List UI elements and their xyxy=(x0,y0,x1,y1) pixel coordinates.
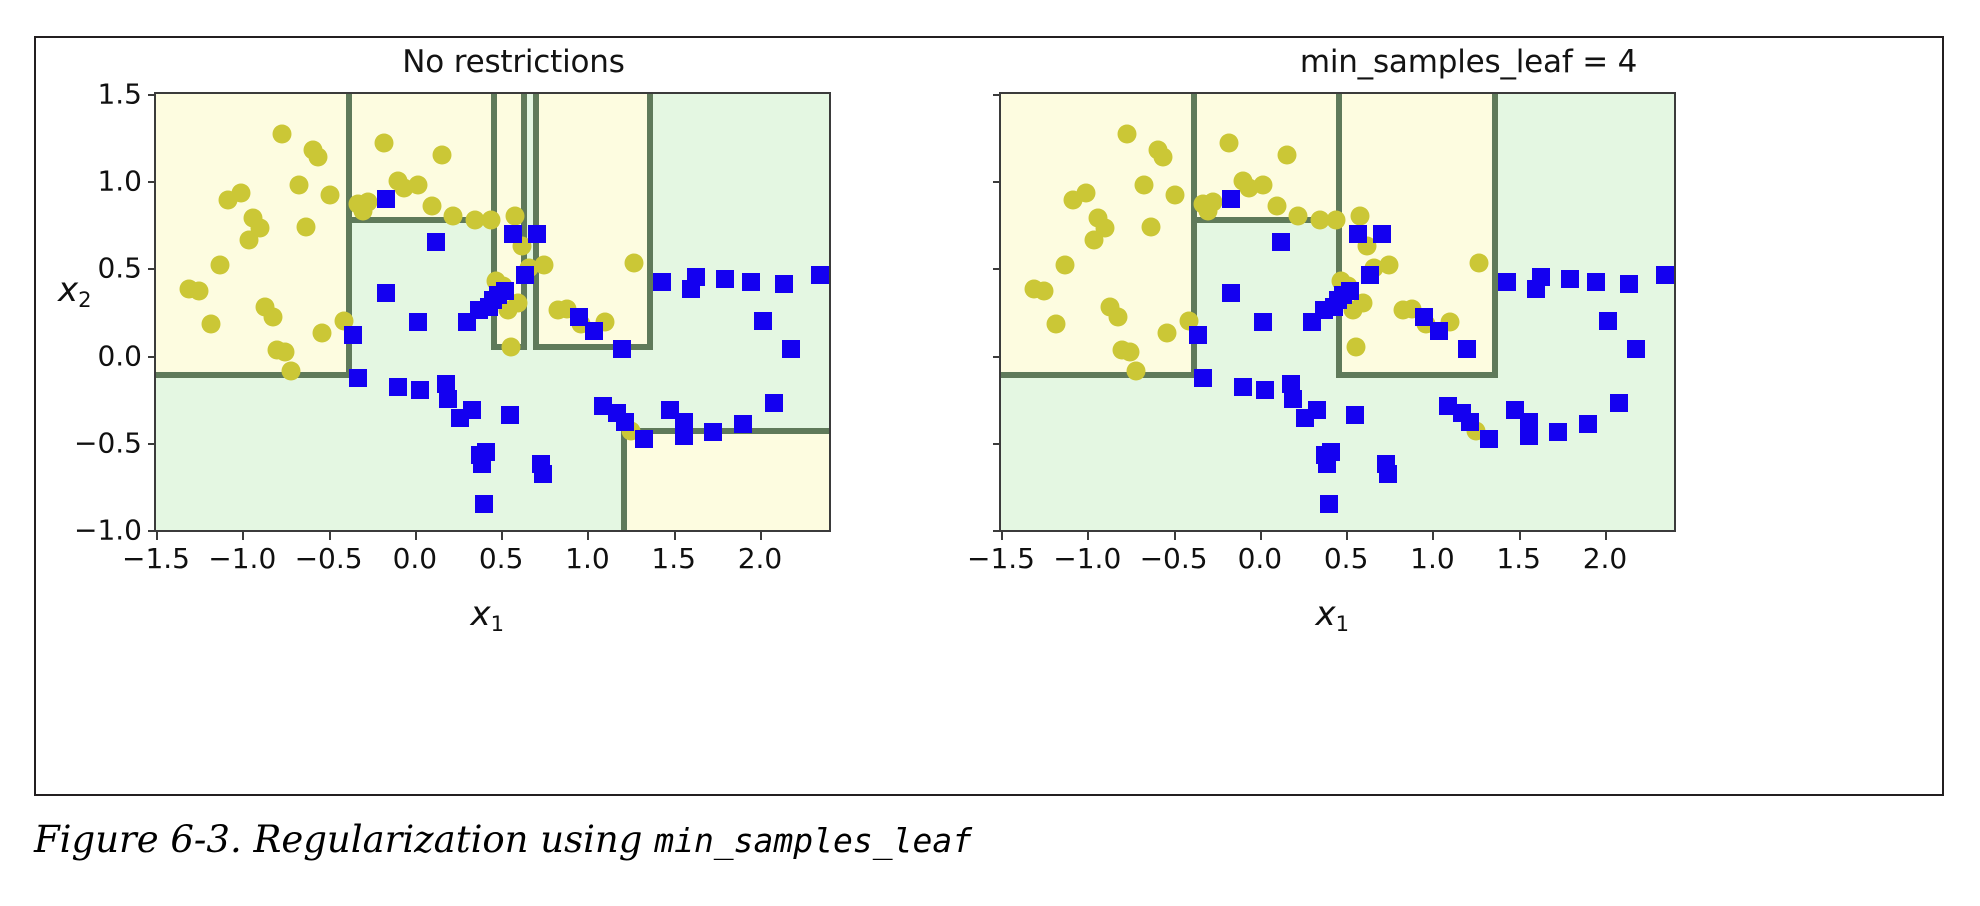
y-tick-mark xyxy=(993,356,1001,358)
data-point-square xyxy=(1373,225,1391,243)
data-point-square xyxy=(1349,225,1367,243)
x-tick-label: 0.0 xyxy=(1238,542,1283,575)
data-point-circle xyxy=(1109,308,1128,327)
data-point-square xyxy=(653,273,671,291)
decision-boundary-segment xyxy=(533,92,539,350)
x-tick-mark xyxy=(329,532,331,540)
data-point-square xyxy=(534,465,552,483)
y-tick-mark xyxy=(993,268,1001,270)
data-point-circle xyxy=(1135,175,1154,194)
data-point-square xyxy=(585,322,603,340)
x-tick-mark xyxy=(587,532,589,540)
y-tick-mark xyxy=(148,356,156,358)
x-tick-mark xyxy=(242,532,244,540)
plot-panel-right: min_samples_leaf = 4 −1.5−1.0−0.50.00.51… xyxy=(991,38,1946,794)
data-point-square xyxy=(504,225,522,243)
decision-boundary-segment xyxy=(621,428,627,532)
data-point-square xyxy=(1222,284,1240,302)
data-point-square xyxy=(1361,266,1379,284)
data-point-circle xyxy=(1278,146,1297,165)
data-point-square xyxy=(716,270,734,288)
data-point-circle xyxy=(433,146,452,165)
axes-left xyxy=(154,92,831,532)
caption-prefix: Figure 6-3. Regularization using xyxy=(34,818,654,861)
data-point-square xyxy=(1549,423,1567,441)
data-point-square xyxy=(1627,340,1645,358)
caption-code: min_samples_leaf xyxy=(654,821,972,860)
data-point-square xyxy=(1587,273,1605,291)
y-axis-label-left: x2 xyxy=(58,270,92,312)
x-tick-label: −1.5 xyxy=(967,542,1035,575)
data-point-circle xyxy=(1126,362,1145,381)
x-tick-mark xyxy=(1432,532,1434,540)
data-point-square xyxy=(616,413,634,431)
x-tick-label: 1.5 xyxy=(651,542,696,575)
data-point-square xyxy=(1272,233,1290,251)
decision-boundary-segment xyxy=(154,372,352,378)
x-tick-label: 1.0 xyxy=(565,542,610,575)
y-tick-mark xyxy=(993,94,1001,96)
x-tick-label: 0.5 xyxy=(479,542,524,575)
x-tick-mark xyxy=(1346,532,1348,540)
data-point-square xyxy=(528,225,546,243)
data-point-square xyxy=(811,266,829,284)
data-point-square xyxy=(1458,340,1476,358)
data-point-circle xyxy=(1326,210,1345,229)
data-point-circle xyxy=(502,337,521,356)
x-tick-label: −1.5 xyxy=(122,542,190,575)
data-point-square xyxy=(349,369,367,387)
data-point-square xyxy=(427,233,445,251)
x-axis-label-right: x1 xyxy=(1316,594,1350,636)
data-point-circle xyxy=(443,207,462,226)
x-tick-label: 0.0 xyxy=(393,542,438,575)
x-tick-label: 0.5 xyxy=(1324,542,1369,575)
data-point-square xyxy=(1322,443,1340,461)
data-point-square xyxy=(377,190,395,208)
data-point-circle xyxy=(297,217,316,236)
data-point-square xyxy=(1308,401,1326,419)
data-point-square xyxy=(1579,415,1597,433)
x-tick-mark xyxy=(760,532,762,540)
data-point-square xyxy=(1222,190,1240,208)
stray-mark xyxy=(40,0,150,8)
x-tick-mark xyxy=(156,532,158,540)
data-point-circle xyxy=(250,219,269,238)
decision-boundary-segment xyxy=(1336,372,1497,378)
data-point-square xyxy=(1610,394,1628,412)
x-tick-label: 1.5 xyxy=(1496,542,1541,575)
data-point-square xyxy=(613,340,631,358)
x-tick-mark xyxy=(1519,532,1521,540)
data-point-square xyxy=(344,326,362,344)
data-point-square xyxy=(1430,322,1448,340)
data-point-circle xyxy=(1142,217,1161,236)
data-point-circle xyxy=(1219,133,1238,152)
y-tick-mark xyxy=(148,181,156,183)
x-axis-label-left: x1 xyxy=(471,594,505,636)
data-point-square xyxy=(775,275,793,293)
data-point-square xyxy=(377,284,395,302)
y-tick-label: 1.0 xyxy=(97,165,142,198)
decision-boundary-segment xyxy=(1492,92,1498,378)
data-point-square xyxy=(1480,430,1498,448)
plot-area-right xyxy=(1001,94,1674,530)
data-point-square xyxy=(1498,273,1516,291)
data-point-square xyxy=(782,340,800,358)
y-tick-mark xyxy=(993,181,1001,183)
data-point-circle xyxy=(481,210,500,229)
data-point-circle xyxy=(625,254,644,273)
y-tick-mark xyxy=(148,443,156,445)
data-point-square xyxy=(411,381,429,399)
data-point-square xyxy=(475,495,493,513)
y-tick-mark xyxy=(148,94,156,96)
data-point-circle xyxy=(359,193,378,212)
data-point-circle xyxy=(1055,255,1074,274)
data-point-circle xyxy=(1166,186,1185,205)
data-point-square xyxy=(501,406,519,424)
y-tick-label: 1.5 xyxy=(97,78,142,111)
data-point-circle xyxy=(1347,337,1366,356)
data-point-circle xyxy=(1350,207,1369,226)
data-point-square xyxy=(754,312,772,330)
data-point-circle xyxy=(202,315,221,334)
x-tick-label: −1.0 xyxy=(208,542,276,575)
x-tick-mark xyxy=(1260,532,1262,540)
figure-frame: No restrictions −1.5−1.0−0.50.00.51.01.5… xyxy=(34,36,1944,796)
data-point-square xyxy=(496,282,514,300)
data-point-square xyxy=(1656,266,1674,284)
x-tick-label: 2.0 xyxy=(738,542,783,575)
data-point-square xyxy=(1189,326,1207,344)
y-tick-mark xyxy=(993,443,1001,445)
axes-right xyxy=(999,92,1676,532)
data-point-circle xyxy=(1157,323,1176,342)
x-tick-label: 2.0 xyxy=(1583,542,1628,575)
y-tick-mark xyxy=(993,530,1001,532)
data-point-square xyxy=(463,401,481,419)
data-point-circle xyxy=(1047,315,1066,334)
data-point-square xyxy=(1620,275,1638,293)
figure-caption: Figure 6-3. Regularization using min_sam… xyxy=(34,818,972,861)
x-tick-label: −1.0 xyxy=(1053,542,1121,575)
data-point-square xyxy=(477,443,495,461)
data-point-circle xyxy=(312,323,331,342)
data-point-square xyxy=(516,266,534,284)
data-point-circle xyxy=(231,184,250,203)
data-point-circle xyxy=(535,255,554,274)
data-point-square xyxy=(1256,381,1274,399)
data-point-square xyxy=(1532,268,1550,286)
data-point-circle xyxy=(374,133,393,152)
data-point-square xyxy=(765,394,783,412)
data-point-square xyxy=(1561,270,1579,288)
data-point-circle xyxy=(1288,207,1307,226)
data-point-square xyxy=(1284,390,1302,408)
data-point-square xyxy=(1320,495,1338,513)
x-tick-label: −0.5 xyxy=(295,542,363,575)
data-point-circle xyxy=(281,362,300,381)
data-point-circle xyxy=(505,207,524,226)
data-point-square xyxy=(734,415,752,433)
data-point-circle xyxy=(190,282,209,301)
plot-title-right: min_samples_leaf = 4 xyxy=(991,44,1946,80)
data-point-circle xyxy=(210,255,229,274)
data-point-circle xyxy=(423,196,442,215)
data-point-circle xyxy=(1268,196,1287,215)
data-point-circle xyxy=(1076,184,1095,203)
data-point-square xyxy=(1346,406,1364,424)
data-point-square xyxy=(704,423,722,441)
data-point-square xyxy=(389,378,407,396)
x-tick-label: −0.5 xyxy=(1140,542,1208,575)
data-point-circle xyxy=(1380,255,1399,274)
y-tick-mark xyxy=(148,530,156,532)
x-tick-mark xyxy=(1174,532,1176,540)
y-tick-label: 0.5 xyxy=(97,252,142,285)
data-point-circle xyxy=(1154,147,1173,166)
y-tick-label: −0.5 xyxy=(74,426,142,459)
x-tick-mark xyxy=(501,532,503,540)
data-point-square xyxy=(742,273,760,291)
y-tick-mark xyxy=(148,268,156,270)
data-point-circle xyxy=(276,343,295,362)
decision-boundary-segment xyxy=(647,92,653,350)
data-point-square xyxy=(1599,312,1617,330)
data-point-square xyxy=(1234,378,1252,396)
plot-panel-left: No restrictions −1.5−1.0−0.50.00.51.01.5… xyxy=(36,38,991,794)
data-point-circle xyxy=(1254,175,1273,194)
data-point-square xyxy=(1461,413,1479,431)
data-point-circle xyxy=(1204,193,1223,212)
plot-area-left xyxy=(156,94,829,530)
x-tick-mark xyxy=(1087,532,1089,540)
data-point-square xyxy=(687,268,705,286)
data-point-circle xyxy=(309,147,328,166)
decision-region-yellow xyxy=(624,431,829,530)
data-point-circle xyxy=(1035,282,1054,301)
data-point-circle xyxy=(290,175,309,194)
data-point-circle xyxy=(1121,343,1140,362)
data-point-square xyxy=(1520,427,1538,445)
x-tick-mark xyxy=(674,532,676,540)
x-tick-label: 1.0 xyxy=(1410,542,1455,575)
decision-boundary-segment xyxy=(1336,92,1342,378)
x-tick-mark xyxy=(1001,532,1003,540)
data-point-circle xyxy=(1117,125,1136,144)
data-point-circle xyxy=(321,186,340,205)
y-tick-label: −1.0 xyxy=(74,514,142,547)
data-point-circle xyxy=(1470,254,1489,273)
data-point-square xyxy=(675,427,693,445)
data-point-square xyxy=(1379,465,1397,483)
x-tick-mark xyxy=(1605,532,1607,540)
data-point-circle xyxy=(264,308,283,327)
data-point-circle xyxy=(1095,219,1114,238)
x-tick-mark xyxy=(415,532,417,540)
data-point-circle xyxy=(409,175,428,194)
data-point-square xyxy=(409,313,427,331)
data-point-square xyxy=(1254,313,1272,331)
y-tick-label: 0.0 xyxy=(97,339,142,372)
plot-title-left: No restrictions xyxy=(36,44,991,80)
plots-row: No restrictions −1.5−1.0−0.50.00.51.01.5… xyxy=(36,38,1942,794)
data-point-square xyxy=(1341,282,1359,300)
data-point-square xyxy=(439,390,457,408)
data-point-circle xyxy=(272,125,291,144)
decision-boundary-segment xyxy=(533,344,653,350)
data-point-square xyxy=(635,430,653,448)
data-point-square xyxy=(1194,369,1212,387)
decision-boundary-segment xyxy=(999,372,1197,378)
